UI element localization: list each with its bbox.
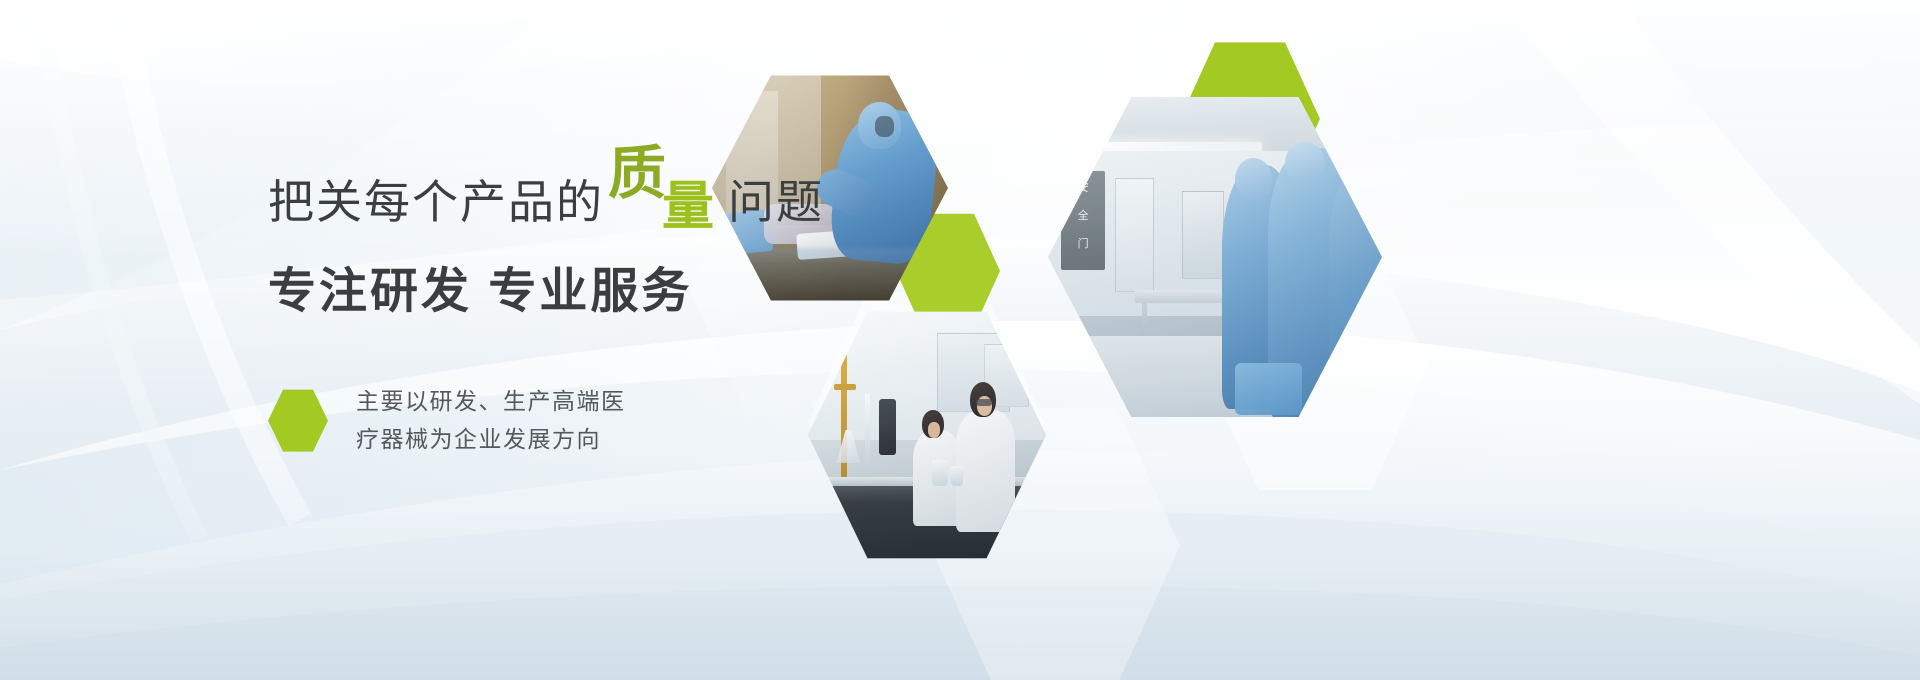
headline-accent-group: 质 量 (608, 176, 718, 225)
hexagon-bullet-icon (268, 388, 328, 454)
headline-secondary: 专注研发 专业服务 (268, 251, 968, 321)
headline-tail: 问题 (728, 179, 824, 225)
hero-subtext: 主要以研发、生产高端医 疗器械为企业发展方向 (356, 383, 626, 459)
hero-banner: 安全门 (0, 0, 1920, 680)
headline-lead: 把关每个产品的 (268, 179, 604, 225)
headline-accent-liang: 量 (662, 184, 714, 231)
headline-accent-zhi: 质 (608, 150, 666, 199)
headline-primary: 把关每个产品的 质 量 问题 (268, 176, 968, 225)
hero-text-block: 把关每个产品的 质 量 问题 专注研发 专业服务 主要以研发、生产高端医 疗器械… (268, 176, 968, 459)
hero-subtext-row: 主要以研发、生产高端医 疗器械为企业发展方向 (268, 383, 968, 459)
